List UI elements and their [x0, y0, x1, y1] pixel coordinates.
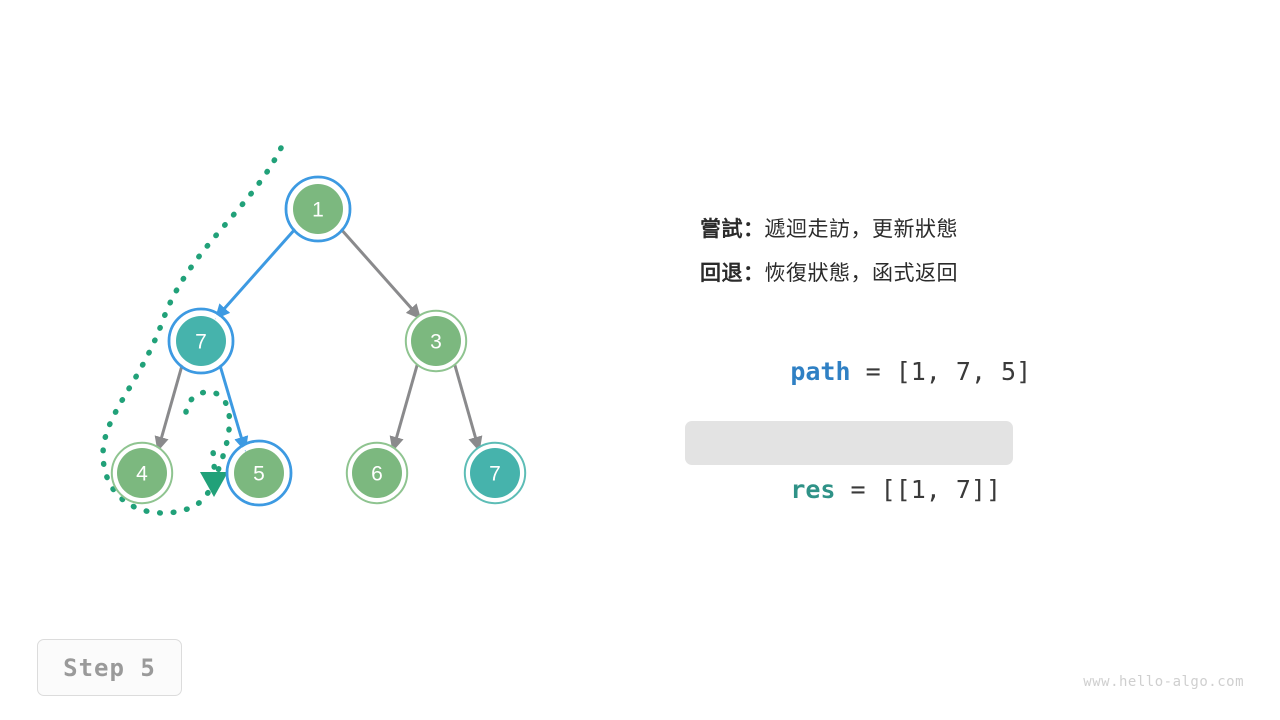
tree-node-4[interactable]: 4	[112, 443, 172, 503]
backtrack-arrowhead-icon	[200, 472, 228, 497]
code-assign-res: =	[835, 475, 880, 504]
code-line-res: res = [[1, 7]]	[700, 446, 1001, 533]
edge-3-to-7-right	[454, 362, 479, 450]
edge-3-to-6	[393, 362, 418, 450]
step-badge-label: Step 5	[63, 654, 156, 682]
tree-node-6-label: 6	[371, 463, 383, 486]
tree-node-3[interactable]: 3	[406, 311, 466, 371]
hint-row-backtrack: 回退： 恢復狀態，函式返回	[700, 250, 1240, 294]
code-value-res: [[1, 7]]	[881, 475, 1001, 504]
code-var-res: res	[790, 475, 835, 504]
code-line-path: path = [1, 7, 5]	[700, 328, 1031, 415]
binary-tree-graphic: 1 7 3 4	[0, 0, 1280, 720]
backtrack-curve-inner	[186, 392, 229, 476]
edge-7-left-to-5	[219, 362, 245, 450]
code-var-path: path	[790, 357, 850, 386]
code-value-path: [1, 7, 5]	[896, 357, 1031, 386]
hint-backtrack-text: 恢復狀態，函式返回	[765, 257, 959, 287]
watermark: www.hello-algo.com	[1083, 674, 1244, 690]
tree-node-4-label: 4	[136, 463, 148, 486]
hint-rows: 嘗試： 遞迴走訪，更新狀態 回退： 恢復狀態，函式返回	[700, 206, 1240, 294]
edge-1-to-3	[340, 228, 420, 318]
tree-node-7-left-label: 7	[195, 331, 207, 354]
tree-node-5[interactable]: 5	[227, 441, 291, 505]
tree-node-6[interactable]: 6	[347, 443, 407, 503]
tree-node-5-label: 5	[253, 463, 265, 486]
tree-node-1-label: 1	[312, 199, 324, 222]
tree-node-1[interactable]: 1	[286, 177, 350, 241]
hint-try-label: 嘗試：	[700, 213, 765, 243]
tree-node-7-left[interactable]: 7	[169, 309, 233, 373]
edge-1-to-7-left	[216, 228, 296, 318]
hint-backtrack-label: 回退：	[700, 257, 765, 287]
tree-nodes: 1 7 3 4	[112, 177, 525, 505]
edge-7-left-to-4	[158, 362, 183, 450]
tree-node-7-right-label: 7	[489, 463, 501, 486]
code-assign-path: =	[851, 357, 896, 386]
hint-row-try: 嘗試： 遞迴走訪，更新狀態	[700, 206, 1240, 250]
hint-try-text: 遞迴走訪，更新狀態	[765, 213, 959, 243]
tree-node-3-label: 3	[430, 331, 442, 354]
tree-node-7-right[interactable]: 7	[465, 443, 525, 503]
explanation-panel: 嘗試： 遞迴走訪，更新狀態 回退： 恢復狀態，函式返回 path = [1, 7…	[700, 206, 1240, 294]
step-badge: Step 5	[37, 639, 182, 696]
diagram-canvas: 1 7 3 4	[0, 0, 1280, 720]
